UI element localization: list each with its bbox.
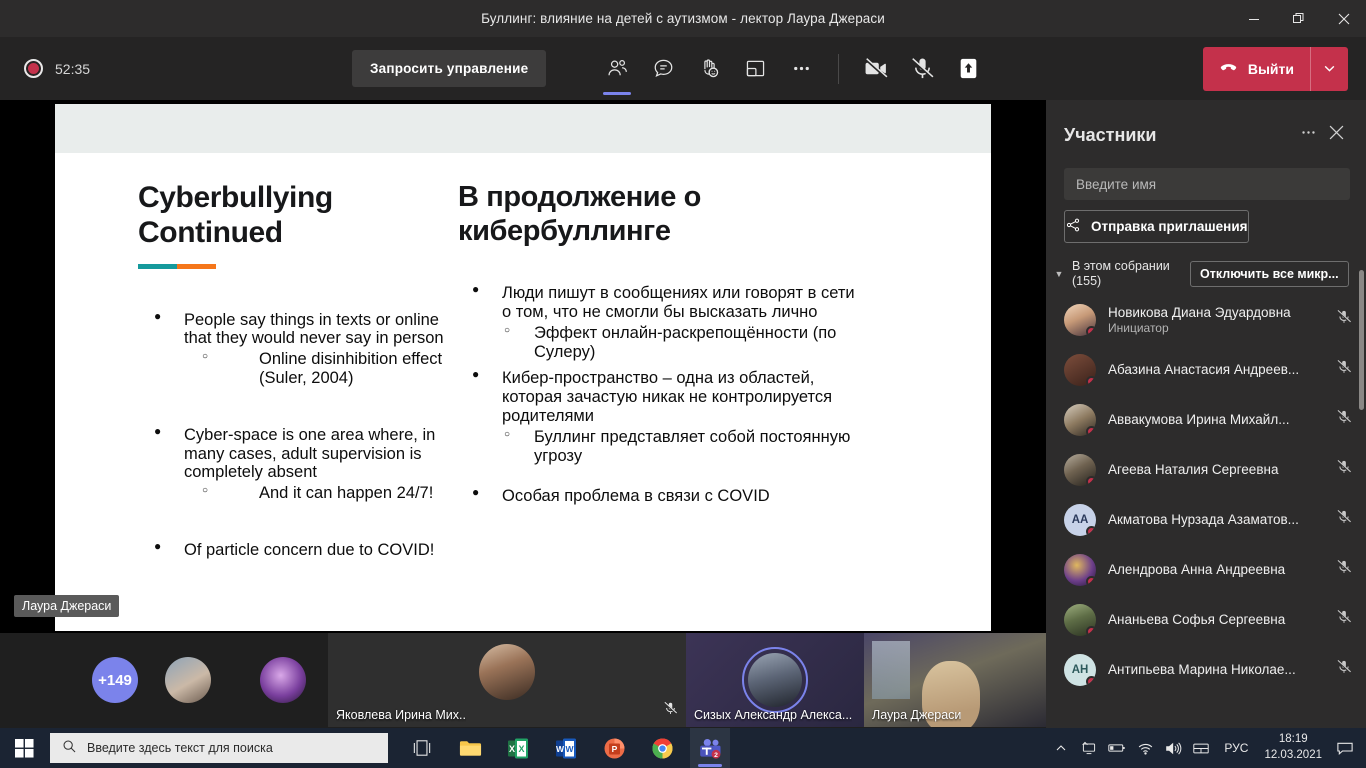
more-options-icon[interactable]: [1294, 120, 1323, 150]
share-invite-label: Отправка приглашения: [1091, 219, 1248, 234]
svg-text:P: P: [611, 744, 617, 754]
avatar: [1064, 404, 1096, 436]
restore-button[interactable]: [1276, 0, 1321, 37]
bullet-item: Люди пишут в сообщениях или говорят в се…: [458, 284, 865, 322]
avatar-initials-text: АА: [1072, 514, 1089, 526]
taskbar-app-icons: X X W W P: [402, 728, 730, 768]
microphone-off-icon[interactable]: [1336, 309, 1352, 330]
presence-badge: [1086, 426, 1096, 436]
participant-name: Антипьева Марина Николае...: [1108, 662, 1336, 677]
microphone-off-icon[interactable]: [1336, 409, 1352, 430]
leave-button[interactable]: Выйти: [1203, 47, 1348, 91]
shared-content-stage: Cyberbullying Continued People say thing…: [0, 100, 1046, 633]
window-controls: [1231, 0, 1366, 37]
participant-list: Новикова Диана Эдуардовна Инициатор: [1046, 295, 1366, 695]
powerpoint-icon[interactable]: P: [594, 728, 634, 768]
filmstrip-tile[interactable]: Яковлева Ирина Мих...: [328, 633, 686, 727]
wifi-icon[interactable]: [1132, 728, 1158, 768]
slide-column-russian: В продолжение о кибербуллинге Люди пишут…: [445, 181, 865, 562]
share-screen-icon[interactable]: [945, 46, 991, 92]
avatar: [748, 653, 802, 707]
overflow-count-badge[interactable]: +149: [92, 657, 138, 703]
search-input[interactable]: [1076, 177, 1338, 192]
presence-badge: [1086, 326, 1096, 336]
participant-row[interactable]: Новикова Диана Эдуардовна Инициатор: [1046, 295, 1366, 345]
task-view-icon[interactable]: [402, 728, 442, 768]
bullet-item: Особая проблема в связи с COVID: [458, 487, 865, 506]
bullet-item: And it can happen 24/7!: [138, 484, 445, 503]
participant-name: Акматова Нурзада Азаматов...: [1108, 512, 1336, 527]
presence-badge: [1086, 476, 1096, 486]
video-feed-bg: [872, 641, 910, 699]
minimize-button[interactable]: [1231, 0, 1276, 37]
people-icon[interactable]: [594, 46, 640, 92]
close-icon[interactable]: [1323, 121, 1350, 149]
svg-text:W: W: [556, 744, 565, 754]
mute-all-button[interactable]: Отключить все микр...: [1190, 261, 1349, 287]
meet-now-icon[interactable]: [1188, 728, 1214, 768]
share-invite-button[interactable]: Отправка приглашения: [1064, 210, 1249, 243]
taskbar-search-box[interactable]: Введите здесь текст для поиска: [50, 733, 388, 763]
participant-name: Новикова Диана Эдуардовна: [1108, 305, 1336, 320]
toolbar-divider: [838, 54, 839, 84]
hangup-icon: [1218, 57, 1239, 81]
bullet-spacer: [138, 388, 445, 426]
window-title: Буллинг: влияние на детей с аутизмом - л…: [481, 11, 885, 26]
roster-scrollbar[interactable]: [1359, 270, 1364, 410]
microphone-off-icon[interactable]: [1336, 659, 1352, 680]
avatar: [1064, 354, 1096, 386]
panel-title: Участники: [1064, 125, 1294, 146]
microphone-off-icon[interactable]: [899, 46, 945, 92]
participant-row[interactable]: Аввакумова Ирина Михайл...: [1046, 395, 1366, 445]
avatar-initials: АН: [1064, 654, 1096, 686]
participant-row[interactable]: Агеева Наталия Сергеевна: [1046, 445, 1366, 495]
presentation-slide: Cyberbullying Continued People say thing…: [55, 104, 991, 631]
action-center-icon[interactable]: [1330, 728, 1360, 768]
participants-panel: Участники Отправка приглашения: [1046, 100, 1366, 728]
participant-search-box[interactable]: [1064, 168, 1350, 200]
microphone-off-icon[interactable]: [1336, 559, 1352, 580]
search-placeholder-text: Введите здесь текст для поиска: [87, 741, 273, 755]
participant-name: Ананьева Софья Сергеевна: [1108, 612, 1336, 627]
language-indicator[interactable]: РУС: [1216, 741, 1256, 755]
participant-row[interactable]: Алендрова Анна Андреевна: [1046, 545, 1366, 595]
participant-name: Агеева Наталия Сергеевна: [1108, 462, 1336, 477]
filmstrip-tile-video[interactable]: Лаура Джераси: [864, 633, 1046, 727]
battery-icon[interactable]: [1104, 728, 1130, 768]
avatar: [1064, 554, 1096, 586]
participant-row[interactable]: Ананьева Софья Сергеевна: [1046, 595, 1366, 645]
bullet-item: Online disinhibition effect (Suler, 2004…: [138, 350, 445, 388]
volume-icon[interactable]: [1160, 728, 1186, 768]
teams-meeting-window: Буллинг: влияние на детей с аутизмом - л…: [0, 0, 1366, 768]
recording-indicator: 52:35: [0, 59, 300, 78]
meeting-toolbar: 52:35 Запросить управление: [0, 37, 1366, 100]
filmstrip-tile-group[interactable]: +149: [0, 633, 328, 727]
avatar: [260, 657, 306, 703]
close-button[interactable]: [1321, 0, 1366, 37]
presence-badge: [1086, 576, 1096, 586]
svg-text:X: X: [518, 744, 524, 754]
more-options-icon[interactable]: [778, 46, 824, 92]
search-icon: [62, 739, 77, 757]
request-control-button[interactable]: Запросить управление: [352, 50, 546, 87]
reactions-icon[interactable]: [686, 46, 732, 92]
presenter-name-tag: Лаура Джераси: [14, 595, 119, 617]
microphone-off-icon[interactable]: [1336, 359, 1352, 380]
participant-row[interactable]: АН Антипьева Марина Николае...: [1046, 645, 1366, 695]
bullet-item: Буллинг представляет собой постоянную уг…: [458, 428, 865, 466]
bullet-list-ru: Люди пишут в сообщениях или говорят в се…: [458, 284, 865, 506]
presence-badge: [1086, 626, 1096, 636]
chat-icon[interactable]: [640, 46, 686, 92]
avatar: [1064, 604, 1096, 636]
share-icon: [1065, 217, 1081, 236]
slide-column-english: Cyberbullying Continued People say thing…: [55, 181, 445, 562]
presence-badge: [1086, 376, 1096, 386]
bullet-item: Кибер-пространство – одна из областей, к…: [458, 369, 865, 425]
bullet-list-en: People say things in texts or online tha…: [138, 311, 445, 560]
bullet-spacer: [138, 503, 445, 541]
participant-row[interactable]: Абазина Анастасия Андреев...: [1046, 345, 1366, 395]
system-tray: РУС 18:19 12.03.2021: [1048, 728, 1366, 768]
microphone-off-icon[interactable]: [1336, 609, 1352, 630]
bullet-spacer: [458, 361, 865, 369]
slide-title-en: Cyberbullying Continued: [138, 181, 445, 251]
leave-chevron-down-icon[interactable]: [1311, 49, 1348, 89]
file-explorer-icon[interactable]: [450, 728, 490, 768]
avatar: [1064, 454, 1096, 486]
tile-participant-name: Яковлева Ирина Мих...: [336, 708, 466, 722]
leave-label: Выйти: [1248, 61, 1294, 77]
participant-filmstrip: +149 Яковлева Ирина Мих... Сизых Алек: [0, 633, 1046, 727]
network-monitor-icon[interactable]: [1076, 728, 1102, 768]
svg-text:2: 2: [714, 752, 718, 759]
avatar: [165, 657, 211, 703]
bullet-item: People say things in texts or online tha…: [138, 311, 445, 349]
start-button[interactable]: [0, 728, 48, 768]
slide-header-band: [55, 104, 991, 153]
filmstrip-tile[interactable]: Сизых Александр Алекса...: [686, 633, 864, 727]
bullet-spacer: [458, 465, 865, 487]
tile-participant-name: Лаура Джераси: [872, 708, 961, 722]
meeting-section-header: ▼ В этом собрании (155) Отключить все ми…: [1052, 259, 1352, 289]
show-hidden-icons-chevron-up-icon[interactable]: [1048, 728, 1074, 768]
title-accent-rule: [138, 264, 216, 269]
tile-participant-name: Сизых Александр Алекса...: [694, 708, 852, 722]
participant-role: Инициатор: [1108, 321, 1336, 335]
avatar: [1064, 304, 1096, 336]
title-bar: Буллинг: влияние на детей с аутизмом - л…: [0, 0, 1366, 37]
presence-badge: [1086, 526, 1096, 536]
slide-title-ru: В продолжение о кибербуллинге: [458, 181, 865, 248]
microphone-off-icon: [663, 701, 678, 721]
chevron-down-icon[interactable]: ▼: [1052, 269, 1066, 279]
microphone-off-icon[interactable]: [1336, 509, 1352, 530]
recording-timer: 52:35: [55, 61, 90, 77]
word-icon[interactable]: W W: [546, 728, 586, 768]
clock-date: 12.03.2021: [1264, 748, 1322, 764]
avatar-initials: АА: [1064, 504, 1096, 536]
clock[interactable]: 18:19 12.03.2021: [1258, 732, 1328, 763]
svg-text:W: W: [565, 744, 574, 754]
participant-name: Алендрова Анна Андреевна: [1108, 562, 1336, 577]
camera-off-icon[interactable]: [853, 46, 899, 92]
bullet-item: Эффект онлайн-раскрепощённости (по Сулер…: [458, 324, 865, 362]
bullet-item: Cyber-space is one area where, in many c…: [138, 426, 445, 482]
avatar: [479, 644, 535, 700]
presence-badge: [1086, 676, 1096, 686]
bullet-item: Of particle concern due to COVID!: [138, 541, 445, 560]
participant-row[interactable]: АА Акматова Нурзада Азаматов...: [1046, 495, 1366, 545]
excel-icon[interactable]: X X: [498, 728, 538, 768]
chrome-icon[interactable]: [642, 728, 682, 768]
participant-name: Абазина Анастасия Андреев...: [1108, 362, 1336, 377]
avatar-initials-text: АН: [1072, 664, 1089, 676]
svg-text:X: X: [509, 744, 515, 754]
participant-name: Аввакумова Ирина Михайл...: [1108, 412, 1336, 427]
clock-time: 18:19: [1264, 732, 1322, 748]
section-label: В этом собрании (155): [1072, 259, 1184, 289]
microphone-off-icon[interactable]: [1336, 459, 1352, 480]
windows-taskbar: Введите здесь текст для поиска X: [0, 728, 1366, 768]
breakout-rooms-icon[interactable]: [732, 46, 778, 92]
teams-icon[interactable]: 2: [690, 728, 730, 768]
record-icon: [24, 59, 43, 78]
